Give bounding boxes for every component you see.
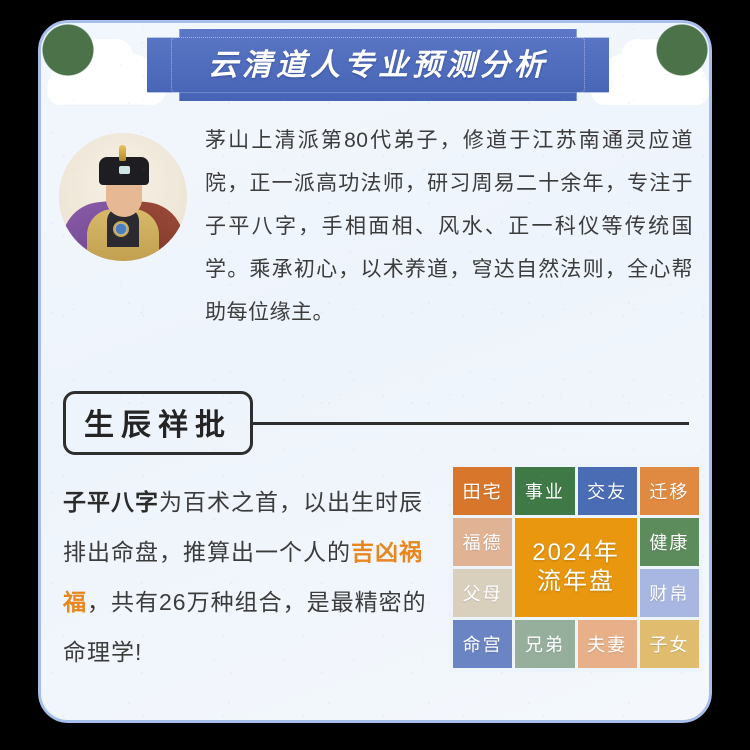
grid-cell-fumu[interactable]: 父母 — [453, 569, 512, 617]
grid-cell-minggong[interactable]: 命宫 — [453, 620, 512, 668]
profile-bio: 茅山上清派第80代弟子，修道于江苏南通灵应道院，正一派高功法师，研习周易二十余年… — [187, 115, 693, 334]
center-chart-line: 流年盘 — [537, 568, 615, 596]
grid-cell-shiye[interactable]: 事业 — [515, 467, 574, 515]
profile-section: 茅山上清派第80代弟子，修道于江苏南通灵应道院，正一派高功法师，研习周易二十余年… — [41, 115, 712, 334]
section-heading-rule — [251, 422, 689, 425]
content-row: 子平八字为百术之首，以出生时辰排出命盘，推算出一个人的吉凶祸福，共有26万种组合… — [41, 463, 712, 677]
bio-text: 茅山上清派第80代弟子，修道于江苏南通灵应道院，正一派高功法师，研习周易二十余年… — [205, 119, 693, 334]
bazi-bold-lead: 子平八字 — [63, 489, 159, 515]
grid-cell-caibo[interactable]: 财帛 — [640, 569, 699, 617]
poster-card: 云清道人专业预测分析 茅山上清派第80代弟子，修道于江苏南通灵应道院，正一派高功… — [38, 20, 712, 723]
grid-cell-qianyi[interactable]: 迁移 — [640, 467, 699, 515]
bazi-description: 子平八字为百术之首，以出生时辰排出命盘，推算出一个人的吉凶祸福，共有26万种组合… — [63, 463, 435, 677]
grid-cell-xiongdi[interactable]: 兄弟 — [515, 620, 574, 668]
grid-cell-zinv[interactable]: 子女 — [640, 620, 699, 668]
header-banner-area: 云清道人专业预测分析 — [41, 23, 712, 101]
grid-cell-tianzhai[interactable]: 田宅 — [453, 467, 512, 515]
section-heading-label: 生辰祥批 — [84, 409, 232, 442]
page-root: 云清道人专业预测分析 茅山上清派第80代弟子，修道于江苏南通灵应道院，正一派高功… — [0, 0, 750, 750]
page-title: 云清道人专业预测分析 — [41, 40, 712, 84]
grid-cell-jiaoyou[interactable]: 交友 — [578, 467, 637, 515]
bazi-part2: ，共有26万种组合，是最精密的命理学! — [63, 589, 427, 665]
grid-cell-jiankang[interactable]: 健康 — [640, 518, 699, 566]
avatar — [59, 133, 187, 261]
fortune-grid: 田宅 事业 交友 迁移 福德 2024年 流年盘 健康 父母 财帛 命宫 兄弟 … — [449, 463, 703, 672]
grid-cell-center-2024[interactable]: 2024年 流年盘 — [515, 518, 637, 617]
grid-cell-fuqi[interactable]: 夫妻 — [578, 620, 637, 668]
section-heading: 生辰祥批 — [41, 391, 712, 455]
avatar-hat-badge — [119, 166, 130, 174]
grid-cell-fude[interactable]: 福德 — [453, 518, 512, 566]
avatar-hat-pin-icon — [119, 145, 126, 161]
section-heading-box: 生辰祥批 — [63, 391, 253, 455]
bazi-paragraph: 子平八字为百术之首，以出生时辰排出命盘，推算出一个人的吉凶祸福，共有26万种组合… — [63, 477, 435, 677]
center-year-line: 2024年 — [532, 539, 619, 567]
avatar-medal-icon — [113, 221, 129, 237]
